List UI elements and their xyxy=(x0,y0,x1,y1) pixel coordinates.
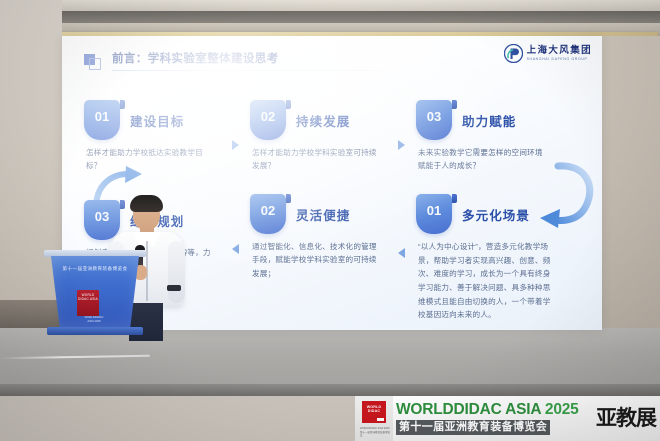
dafeng-logo-icon xyxy=(504,44,523,63)
card-title: 灵活便捷 xyxy=(296,205,350,224)
card-title: 多元化场景 xyxy=(462,205,530,224)
brand-logo: 上海大风集团 SHANGHAI DAFENG GROUP xyxy=(504,44,592,63)
banner-short-cn: 亚教展 xyxy=(594,408,660,429)
card-number-badge: 02 xyxy=(250,100,286,140)
card-number-badge: 01 xyxy=(416,194,452,234)
screenshot-root: 前言：学科实验室整体建设思考 上海大风集团 SHANGHAI DAFENG GR… xyxy=(0,0,660,441)
lectern-label: 第十一届亚洲教育装备博览会 xyxy=(59,266,131,272)
title-underline xyxy=(112,70,412,71)
worlddidac-logo-text: WORLD DIDAC xyxy=(364,405,384,414)
banner-title-cn: 第十一届亚洲教育装备博览会 xyxy=(399,421,547,434)
worlddidac-logo-subtext: WORLDDIDAC ASIA 2025 第十一届亚洲教育装备博览会 xyxy=(360,427,390,438)
card-number: 01 xyxy=(84,109,120,124)
worlddidac-logo: WORLD DIDAC WORLDDIDAC ASIA 2025 第十一届亚洲教… xyxy=(355,396,393,441)
wall-right-panel xyxy=(600,36,660,330)
card-number: 03 xyxy=(416,109,452,124)
triangle-right-icon xyxy=(232,140,239,150)
card-title: 持续发展 xyxy=(296,111,350,130)
brand-name-cn: 上海大风集团 xyxy=(527,46,592,56)
card-number: 01 xyxy=(416,203,452,218)
card-number-badge: 02 xyxy=(250,194,286,234)
lectern-base xyxy=(47,327,143,335)
lectern-top xyxy=(44,250,146,257)
lectern: 第十一届亚洲教育装备博览会 WORLD DIDAC ASIA WORLDDIDA… xyxy=(47,250,143,342)
card-row1-2[interactable]: 02 持续发展 怎样才能助力学校学科实验室可持续发展？ xyxy=(250,100,390,174)
stage-edge xyxy=(0,384,660,396)
triangle-left-icon xyxy=(398,248,405,258)
lectern-badge-sub: WORLDDIDAC ASIA 2025 xyxy=(81,316,107,323)
triangle-left-icon xyxy=(232,244,239,254)
card-body: 通过智能化、信息化、技术化的管理手段，赋能学校学科实验室的可持续发展； xyxy=(252,240,384,280)
wristwatch xyxy=(167,285,181,291)
card-row1-3[interactable]: 03 助力赋能 未来实验教学它需要怎样的空间环境赋能于人的成长？ xyxy=(416,100,562,180)
brand-name-en: SHANGHAI DAFENG GROUP xyxy=(527,58,592,61)
card-body: “以人为中心设计”，营造多元化教学场景，帮助学习者实现高兴趣、创意、频次、难度的… xyxy=(418,240,558,322)
triangle-right-icon xyxy=(398,140,405,150)
double-square-icon xyxy=(84,54,100,69)
card-row2-2[interactable]: 02 灵活便捷 通过智能化、信息化、技术化的管理手段，赋能学校学科实验室的可持续… xyxy=(250,194,390,286)
card-row1-1[interactable]: 01 建设目标 怎样才能助力学校抵达实验教学目标？ xyxy=(84,100,224,174)
card-row2-3[interactable]: 01 多元化场景 “以人为中心设计”，营造多元化教学场景，帮助学习者实现高兴趣、… xyxy=(416,194,566,314)
card-title: 建设目标 xyxy=(130,111,184,130)
card-number: 02 xyxy=(250,109,286,124)
card-number: 02 xyxy=(250,203,286,218)
card-body: 怎样才能助力学校学科实验室可持续发展？ xyxy=(252,146,384,173)
lectern-badge-text: WORLD DIDAC ASIA xyxy=(78,293,98,301)
card-title: 助力赋能 xyxy=(462,111,516,130)
card-number-badge: 01 xyxy=(84,100,120,140)
card-number-badge: 03 xyxy=(416,100,452,140)
worlddidac-logo-mark: WORLD DIDAC xyxy=(362,401,386,423)
banner-title-year: 2025 xyxy=(545,401,579,418)
banner-title-en: WORLDDIDAC ASIA 2025 xyxy=(396,402,594,418)
card-body: 未来实验教学它需要怎样的空间环境赋能于人的成长？ xyxy=(418,146,550,173)
card-body: 怎样才能助力学校抵达实验教学目标？ xyxy=(86,146,218,173)
page-title: 前言：学科实验室整体建设思考 xyxy=(112,50,279,66)
event-banner: WORLD DIDAC WORLDDIDAC ASIA 2025 第十一届亚洲教… xyxy=(355,396,660,441)
banner-title-en-text: WORLDDIDAC ASIA xyxy=(396,401,541,418)
